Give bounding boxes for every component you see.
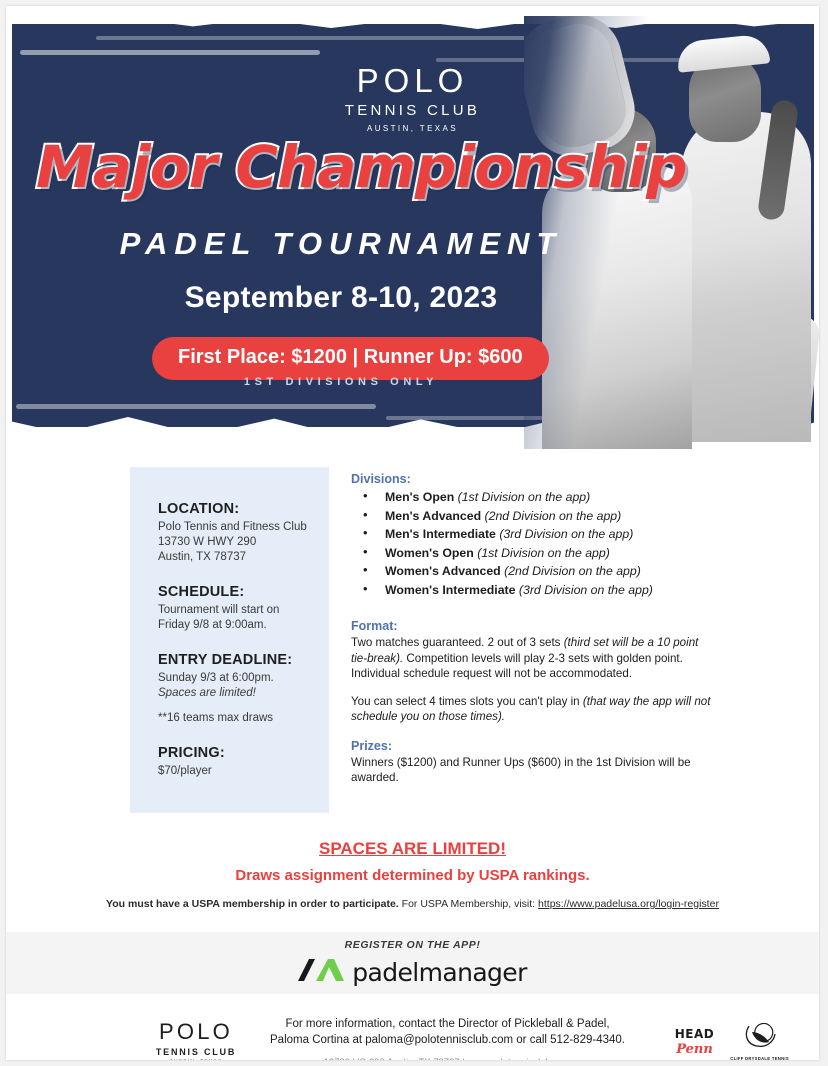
- fineprint-rest: For USPA Membership, visit:: [399, 898, 538, 910]
- hero-club-logo: POLO TENNIS CLUB AUSTIN, TEXAS: [6, 64, 819, 133]
- schedule-heading: SCHEDULE:: [158, 584, 329, 600]
- contact-line-1: For more information, contact the Direct…: [266, 1016, 629, 1032]
- entry-deadline-line-1: Sunday 9/3 at 6:00pm.: [158, 671, 329, 686]
- right-column: Divisions: Men's Open (1st Division on t…: [351, 467, 711, 798]
- division-sub: (1st Division on the app): [477, 546, 610, 560]
- prizes-text: Winners ($1200) and Runner Ups ($600) in…: [351, 755, 711, 786]
- footer: POLO TENNIS CLUB AUSTIN, TEXAS For more …: [6, 994, 819, 1060]
- location-line-2: 13730 W HWY 290: [158, 535, 329, 550]
- fineprint-bold: You must have a USPA membership in order…: [106, 898, 399, 910]
- location-line-3: Austin, TX 78737: [158, 550, 329, 565]
- notice-headline-wrap: SPACES ARE LIMITED!: [6, 839, 819, 859]
- location-block: LOCATION: Polo Tennis and Fitness Club 1…: [158, 501, 329, 565]
- division-name: Women's Open: [385, 546, 474, 560]
- division-sub: (3rd Division on the app): [519, 583, 653, 597]
- cliff-drysdale-swoosh-icon: [743, 1036, 777, 1053]
- footer-club-logo: POLO TENNIS CLUB AUSTIN, TEXAS: [136, 1019, 256, 1060]
- division-sub: (1st Division on the app): [458, 490, 591, 504]
- format-p1-a: Two matches guaranteed. 2 out of 3 sets: [351, 636, 564, 649]
- head-penn-logo: HEAD Penn: [675, 1027, 715, 1057]
- list-item: Women's Advanced (2nd Division on the ap…: [351, 562, 711, 581]
- division-name: Women's Intermediate: [385, 583, 515, 597]
- brush-streak-decoration: [16, 404, 376, 409]
- schedule-line-2: Friday 9/8 at 9:00am.: [158, 618, 329, 633]
- format-heading: Format:: [351, 619, 711, 633]
- brush-streak-decoration: [20, 50, 320, 55]
- format-paragraph-2: You can select 4 times slots you can't p…: [351, 694, 711, 725]
- pricing-heading: PRICING:: [158, 745, 329, 761]
- event-subtitle: PADEL TOURNAMENT: [36, 226, 646, 262]
- hero-banner: POLO TENNIS CLUB AUSTIN, TEXAS Major Cha…: [6, 6, 819, 449]
- entry-deadline-line-2: Spaces are limited!: [158, 686, 329, 701]
- prize-badge: First Place: $1200 | Runner Up: $600: [152, 337, 549, 380]
- entry-deadline-note: **16 teams max draws: [158, 711, 329, 726]
- format-p2-a: You can select 4 times slots you can't p…: [351, 695, 583, 708]
- list-item: Men's Intermediate (3rd Division on the …: [351, 525, 711, 544]
- brush-streak-decoration: [96, 36, 526, 40]
- footer-address-line: 13730 US-290 Austin, TX 78737 | www.polo…: [266, 1057, 629, 1060]
- list-item: Men's Open (1st Division on the app): [351, 488, 711, 507]
- event-date: September 8-10, 2023: [36, 281, 646, 315]
- footer-logo-tennis: TENNIS CLUB: [136, 1047, 256, 1057]
- club-logo-tennis: TENNIS CLUB: [6, 102, 819, 119]
- format-paragraph-1: Two matches guaranteed. 2 out of 3 sets …: [351, 635, 711, 682]
- event-title: Major Championship: [36, 138, 646, 196]
- sponsor-logos: HEAD Penn CLIFF DRYSDALE TENNIS: [639, 1023, 789, 1060]
- division-sub: (3rd Division on the app): [499, 527, 633, 541]
- content-area: LOCATION: Polo Tennis and Fitness Club 1…: [6, 449, 819, 1060]
- division-name: Men's Open: [385, 490, 454, 504]
- footer-logo-polo: POLO: [136, 1019, 256, 1045]
- divisions-list: Men's Open (1st Division on the app) Men…: [351, 488, 711, 599]
- notice-headline: SPACES ARE LIMITED!: [319, 839, 506, 859]
- pricing-line-1: $70/player: [158, 764, 329, 779]
- page-frame: POLO TENNIS CLUB AUSTIN, TEXAS Major Cha…: [0, 0, 828, 1066]
- info-row: LOCATION: Polo Tennis and Fitness Club 1…: [6, 467, 819, 813]
- notice-subline: Draws assignment determined by USPA rank…: [6, 867, 819, 884]
- footer-logo-austin: AUSTIN, TEXAS: [136, 1059, 256, 1060]
- padelmanager-wordmark: padelmanager: [352, 958, 527, 987]
- entry-deadline-heading: ENTRY DEADLINE:: [158, 652, 329, 668]
- pricing-block: PRICING: $70/player: [158, 745, 329, 779]
- footer-contact: For more information, contact the Direct…: [256, 1016, 639, 1060]
- divisions-only-note: 1ST DIVISIONS ONLY: [36, 376, 646, 388]
- location-heading: LOCATION:: [158, 501, 329, 517]
- prizes-heading: Prizes:: [351, 739, 711, 753]
- register-on-app-band: REGISTER ON THE APP! padelmanager: [6, 932, 819, 994]
- contact-line-2: Paloma Cortina at paloma@polotennisclub.…: [266, 1032, 629, 1048]
- list-item: Women's Intermediate (3rd Division on th…: [351, 581, 711, 600]
- division-name: Men's Advanced: [385, 509, 481, 523]
- division-sub: (2nd Division on the app): [504, 564, 641, 578]
- division-name: Women's Advanced: [385, 564, 501, 578]
- entry-deadline-block: ENTRY DEADLINE: Sunday 9/3 at 6:00pm. Sp…: [158, 652, 329, 726]
- limited-spaces-notice: SPACES ARE LIMITED! Draws assignment det…: [6, 839, 819, 910]
- cliff-drysdale-wordmark: CLIFF DRYSDALE TENNIS: [730, 1056, 789, 1060]
- division-name: Men's Intermediate: [385, 527, 496, 541]
- division-sub: (2nd Division on the app): [485, 509, 622, 523]
- cliff-drysdale-logo: CLIFF DRYSDALE TENNIS: [730, 1023, 789, 1060]
- penn-wordmark: Penn: [675, 1042, 715, 1057]
- padelmanager-logo[interactable]: padelmanager: [298, 957, 527, 988]
- schedule-line-1: Tournament will start on: [158, 603, 329, 618]
- list-item: Women's Open (1st Division on the app): [351, 544, 711, 563]
- schedule-block: SCHEDULE: Tournament will start on Frida…: [158, 584, 329, 633]
- flyer-sheet: POLO TENNIS CLUB AUSTIN, TEXAS Major Cha…: [6, 6, 819, 1060]
- divisions-heading: Divisions:: [351, 472, 711, 486]
- club-logo-austin: AUSTIN, TEXAS: [6, 124, 819, 133]
- uspa-membership-link[interactable]: https://www.padelusa.org/login-register: [538, 898, 719, 910]
- head-wordmark: HEAD: [675, 1027, 715, 1041]
- details-card: LOCATION: Polo Tennis and Fitness Club 1…: [130, 467, 329, 813]
- padelmanager-chevron-icon: [298, 957, 344, 988]
- notice-fineprint: You must have a USPA membership in order…: [6, 898, 819, 910]
- club-logo-polo: POLO: [6, 64, 819, 97]
- register-label: REGISTER ON THE APP!: [345, 939, 481, 951]
- location-line-1: Polo Tennis and Fitness Club: [158, 520, 329, 535]
- list-item: Men's Advanced (2nd Division on the app): [351, 507, 711, 526]
